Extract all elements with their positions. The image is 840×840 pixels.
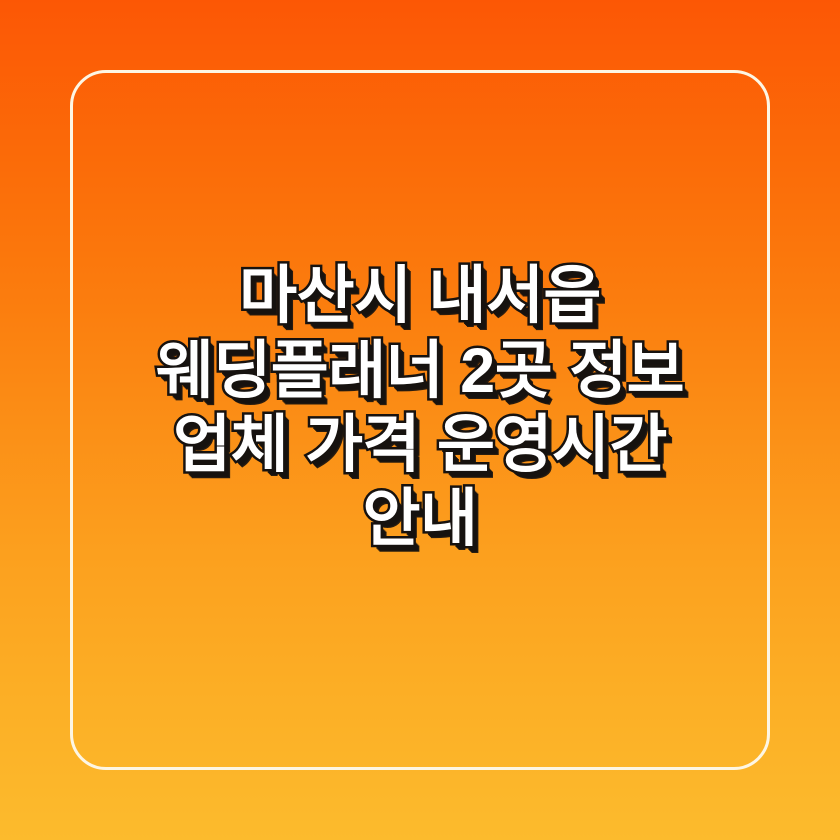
headline-line-3: 업체 가격 운영시간 [72,408,768,482]
page-title: 마산시 내서읍 웨딩플래너 2곳 정보 업체 가격 운영시간 안내 [72,259,768,556]
headline-line-2: 웨딩플래너 2곳 정보 [72,334,768,408]
headline-line-4: 안내 [72,482,768,556]
headline-line-1: 마산시 내서읍 [72,259,768,333]
headline-block: 마산시 내서읍 웨딩플래너 2곳 정보 업체 가격 운영시간 안내 [0,0,840,840]
thumbnail-card: 마산시 내서읍 웨딩플래너 2곳 정보 업체 가격 운영시간 안내 [0,0,840,840]
